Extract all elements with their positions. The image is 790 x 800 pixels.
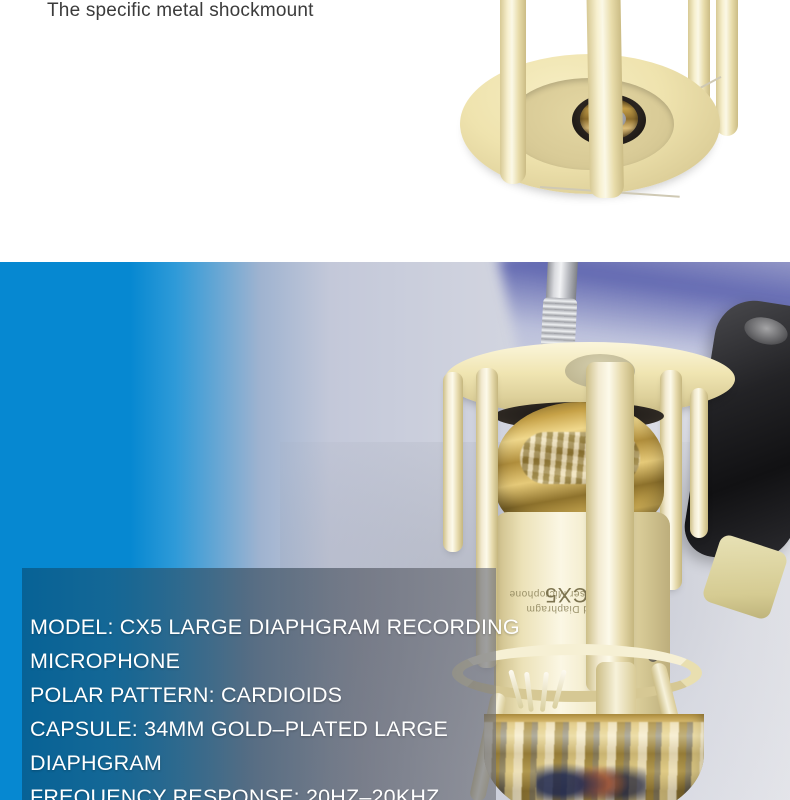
- spec-line: MICROPHONE: [30, 644, 500, 678]
- spec-line: FREQUENCY RESPONSE: 20HZ–20KHZ: [30, 780, 500, 800]
- spec-line: MODEL: CX5 LARGE DIAPHGRAM RECORDING: [30, 610, 500, 644]
- shockmount-section: The specific metal shockmount: [0, 0, 790, 262]
- cage-bar-far-left: [443, 372, 463, 552]
- shockmount-post-left: [500, 0, 526, 184]
- spec-list: MODEL: CX5 LARGE DIAPHGRAM RECORDING MIC…: [30, 610, 500, 800]
- spec-line: POLAR PATTERN: CARDIOIDS: [30, 678, 500, 712]
- shockmount-post-right-inner: [716, 0, 738, 136]
- shockmount-photo: [420, 0, 790, 262]
- cage-bar-center: [586, 362, 634, 692]
- mic-bottom-gold-dome: [484, 714, 704, 800]
- section-caption: The specific metal shockmount: [47, 0, 314, 22]
- mic-dome-reflected-people: [536, 746, 646, 800]
- cage-bar-far-right: [690, 388, 708, 538]
- shockmount-post-center: [586, 0, 624, 198]
- spec-line: DIAPHGRAM: [30, 746, 500, 780]
- left-blue-accent-bar: [0, 262, 22, 800]
- product-detail-page: The specific metal shockmount: [0, 0, 790, 800]
- spec-line: CAPSULE: 34MM GOLD–PLATED LARGE: [30, 712, 500, 746]
